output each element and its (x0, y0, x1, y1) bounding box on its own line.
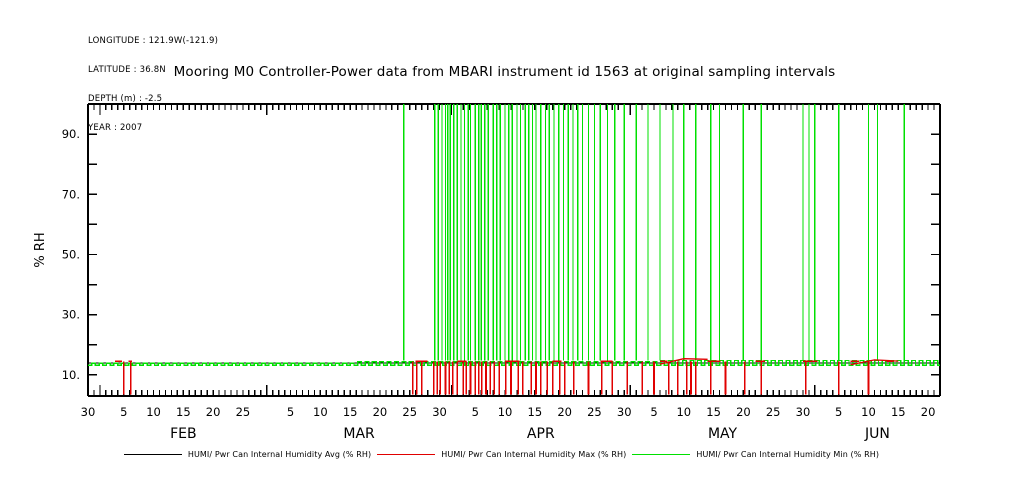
legend-swatch-avg (124, 454, 182, 455)
x-tick-label: 10 (313, 405, 328, 419)
x-tick-label: 10 (861, 405, 876, 419)
legend-swatch-min (632, 454, 690, 455)
x-tick-label: 25 (766, 405, 781, 419)
chart-plot-area: 10.30.50.70.90.% RH305101520255101520253… (0, 0, 1009, 504)
x-tick-label: 15 (528, 405, 543, 419)
y-tick-label: 70. (62, 187, 80, 201)
x-tick-label: 30 (617, 405, 632, 419)
legend-swatch-max (377, 454, 435, 455)
x-tick-label: 5 (650, 405, 657, 419)
legend-entry: HUMI/ Pwr Can Internal Humidity Avg (% R… (124, 450, 377, 459)
x-tick-label: 20 (373, 405, 388, 419)
legend-entry: HUMI/ Pwr Can Internal Humidity Min (% R… (632, 450, 885, 459)
x-tick-label: 10 (498, 405, 513, 419)
legend-label: HUMI/ Pwr Can Internal Humidity Max (% R… (441, 450, 626, 459)
x-month-label: MAR (343, 426, 375, 442)
x-tick-label: 30 (81, 405, 96, 419)
y-tick-label: 90. (62, 127, 80, 141)
x-month-label: APR (527, 426, 555, 442)
y-tick-label: 10. (62, 368, 80, 382)
x-tick-label: 5 (120, 405, 127, 419)
x-tick-label: 15 (176, 405, 191, 419)
y-tick-label: 50. (62, 248, 80, 262)
x-tick-label: 15 (891, 405, 906, 419)
x-month-label: MAY (708, 426, 738, 442)
x-tick-label: 15 (343, 405, 358, 419)
chart-page: LONGITUDE : 121.9W(-121.9) LATITUDE : 36… (0, 0, 1009, 504)
x-tick-label: 20 (206, 405, 221, 419)
x-month-label: JUN (864, 426, 890, 442)
x-tick-label: 5 (835, 405, 842, 419)
x-tick-label: 5 (287, 405, 294, 419)
x-tick-label: 25 (236, 405, 251, 419)
x-tick-label: 20 (557, 405, 572, 419)
y-axis-title: % RH (33, 232, 48, 267)
chart-legend: HUMI/ Pwr Can Internal Humidity Avg (% R… (0, 450, 1009, 459)
x-month-label: FEB (170, 426, 197, 442)
y-tick-label: 30. (62, 308, 80, 322)
legend-label: HUMI/ Pwr Can Internal Humidity Avg (% R… (188, 450, 371, 459)
x-tick-label: 20 (736, 405, 751, 419)
x-tick-label: 10 (146, 405, 161, 419)
legend-entry: HUMI/ Pwr Can Internal Humidity Max (% R… (377, 450, 632, 459)
x-tick-label: 10 (676, 405, 691, 419)
x-tick-label: 15 (706, 405, 721, 419)
x-tick-label: 30 (796, 405, 811, 419)
x-tick-label: 25 (587, 405, 602, 419)
x-tick-label: 5 (472, 405, 479, 419)
x-tick-label: 25 (402, 405, 417, 419)
x-tick-label: 30 (432, 405, 447, 419)
legend-label: HUMI/ Pwr Can Internal Humidity Min (% R… (696, 450, 879, 459)
x-tick-label: 20 (921, 405, 936, 419)
